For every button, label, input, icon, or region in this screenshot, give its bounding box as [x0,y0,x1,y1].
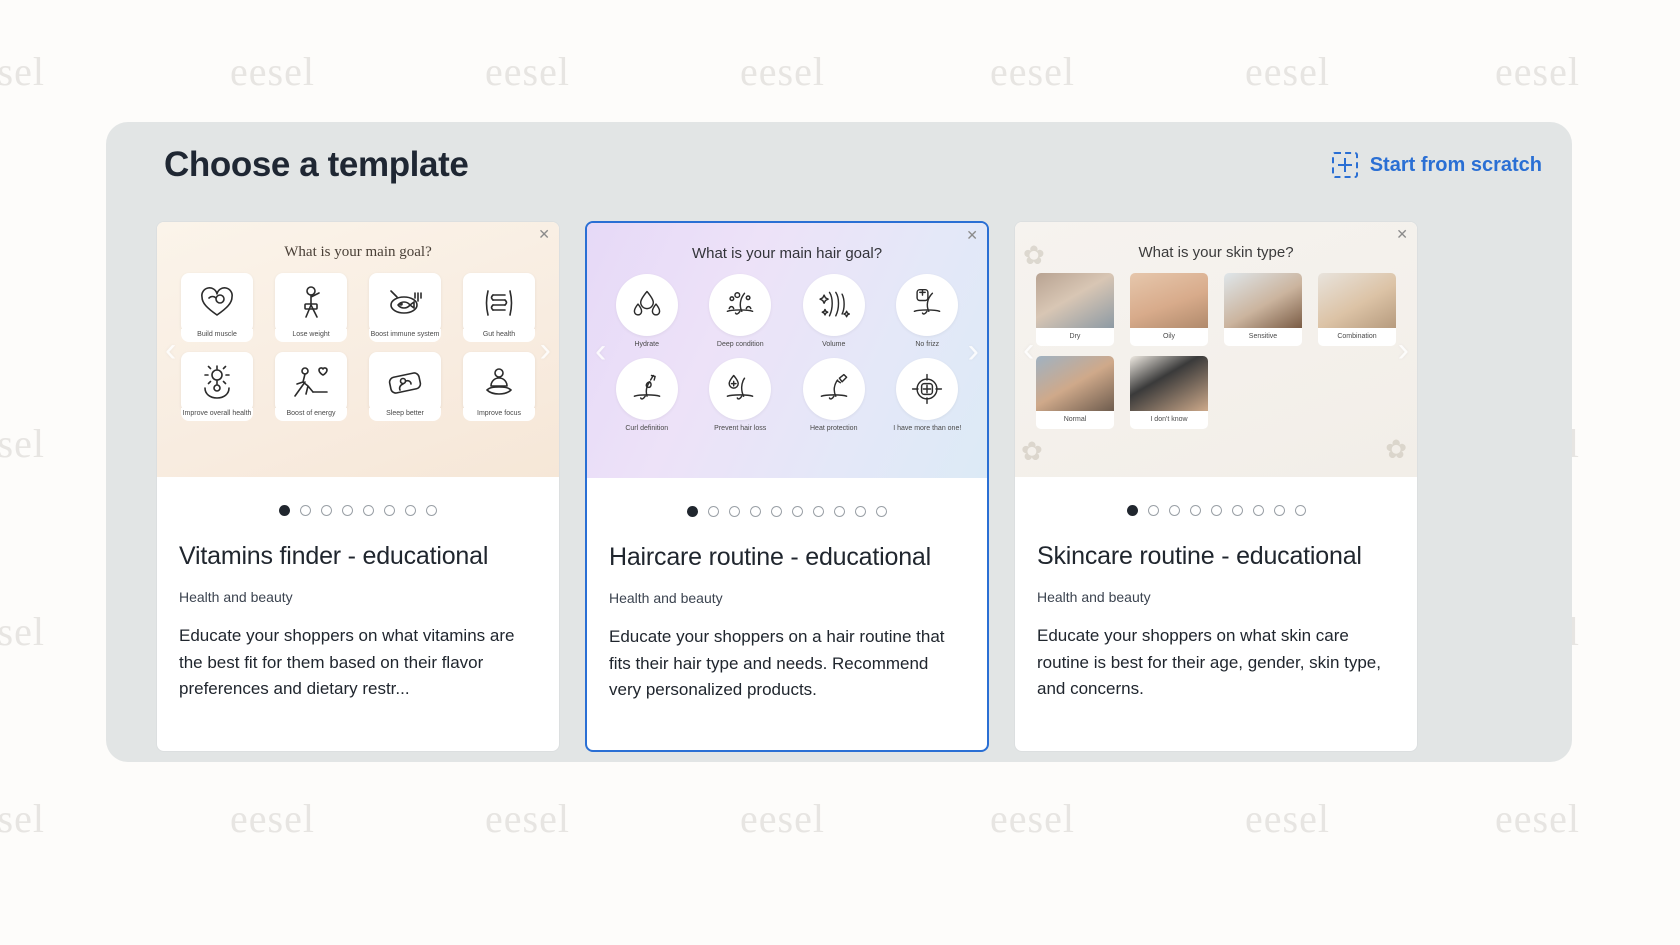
watermark-text: eesel [990,48,1075,95]
preview-option-label: Boost of energy [275,408,347,421]
template-card[interactable]: ✿ ✿ ✿ ✕ What is your skin type? Dry Oily… [1014,221,1418,752]
carousel-dot[interactable] [1295,505,1306,516]
preview-option[interactable]: Dry [1033,273,1117,346]
watermark-text: eesel [0,608,45,655]
intestines-icon [463,273,535,333]
modal-header: Choose a template Start from scratch [106,122,1572,208]
template-preview: ✕ What is your main goal? Build muscle L… [157,222,559,477]
page-title: Choose a template [164,145,468,185]
preview-option-label: Improve focus [463,408,535,421]
watermark-text: eesel [740,795,825,842]
hair-drop-plus-icon [709,358,771,420]
template-category: Health and beauty [609,590,965,606]
preview-option[interactable]: Sleep better [363,352,447,421]
fish-plate-icon [369,273,441,333]
preview-option-label: Lose weight [275,329,347,342]
chevron-right-icon[interactable]: › [540,333,551,367]
carousel-dot[interactable] [1148,505,1159,516]
heart-muscle-icon [181,273,253,333]
template-title: Vitamins finder - educational [179,542,537,571]
watermark-text: eesel [0,48,45,95]
hiking-heart-icon [275,352,347,412]
leaf-decoration-icon: ✿ [1023,240,1045,271]
watermark-text: eesel [1245,48,1330,95]
preview-option-label: No frizz [915,341,939,348]
photo-hand-lotion [1036,273,1114,328]
preview-option-label: Dry [1036,328,1114,346]
preview-option[interactable]: Gut health [457,273,541,342]
preview-option[interactable]: No frizz [886,274,970,348]
preview-option-label: Sleep better [369,408,441,421]
preview-option[interactable]: I have more than one! [886,358,970,432]
template-title: Haircare routine - educational [609,543,965,572]
template-description: Educate your shoppers on what vitamins a… [179,623,537,703]
preview-option[interactable]: Oily [1127,273,1211,346]
chevron-right-icon[interactable]: › [1398,333,1409,367]
watermark-text: eesel [1495,795,1580,842]
carousel-dot[interactable] [426,505,437,516]
carousel-dot[interactable] [813,506,824,517]
template-card-list: ✕ What is your main goal? Build muscle L… [156,221,1418,752]
close-icon[interactable]: ✕ [966,228,978,242]
carousel-dot[interactable] [750,506,761,517]
chevron-left-icon[interactable]: ‹ [165,333,176,367]
preview-option[interactable]: Combination [1315,273,1399,346]
preview-option[interactable]: Improve overall health [175,352,259,421]
preview-option[interactable]: Lose weight [269,273,353,342]
preview-option-label: Prevent hair loss [714,425,766,432]
person-measuring-tape-icon [275,273,347,333]
photo-woman-smiling [1036,356,1114,411]
target-plus-icon [896,358,958,420]
carousel-dot[interactable] [876,506,887,517]
carousel-dot[interactable] [1232,505,1243,516]
meditation-icon [463,352,535,412]
preview-option[interactable]: Improve focus [457,352,541,421]
watermark-text: eesel [230,48,315,95]
carousel-dot[interactable] [1127,505,1138,516]
carousel-dot[interactable] [687,506,698,517]
template-category: Health and beauty [1037,589,1395,605]
dashed-square-plus-icon [1332,152,1358,178]
watermark-text: eesel [0,795,45,842]
carousel-dot[interactable] [792,506,803,517]
close-icon[interactable]: ✕ [1396,227,1408,241]
photo-woman-applying [1318,273,1396,328]
preview-option-label: Deep condition [717,341,764,348]
close-icon[interactable]: ✕ [538,227,550,241]
carousel-dot[interactable] [729,506,740,517]
preview-option[interactable]: Boost of energy [269,352,353,421]
water-drops-icon [616,274,678,336]
template-preview: ✕ What is your main hair goal? Hydrate D… [587,223,987,478]
carousel-dot[interactable] [342,505,353,516]
preview-option-label: Curl definition [625,425,668,432]
preview-option-grid: Hydrate Deep condition Volume No frizz C… [587,262,987,432]
carousel-dot[interactable] [834,506,845,517]
carousel-dot[interactable] [363,505,374,516]
preview-option-grid: Dry Oily Sensitive Combination Normal I … [1015,261,1417,429]
template-description: Educate your shoppers on a hair routine … [609,624,965,704]
preview-option[interactable]: I don't know [1127,356,1211,429]
preview-option-label: I don't know [1130,411,1208,429]
carousel-dot[interactable] [1211,505,1222,516]
hair-follicle-bubbles-icon [709,274,771,336]
watermark-text: eesel [1495,48,1580,95]
chevron-left-icon[interactable]: ‹ [595,334,606,368]
leaf-decoration-icon: ✿ [1021,436,1043,467]
photo-woman-washing [1224,273,1302,328]
pillow-sleep-icon [369,352,441,412]
carousel-dot[interactable] [708,506,719,517]
watermark-text: eesel [990,795,1075,842]
chevron-left-icon[interactable]: ‹ [1023,333,1034,367]
preview-option-label: I have more than one! [893,425,961,432]
carousel-dot[interactable] [1253,505,1264,516]
photo-woman-towel [1130,356,1208,411]
template-card-body: Vitamins finder - educational Health and… [157,516,559,703]
watermark-text: eesel [485,48,570,95]
carousel-dot[interactable] [1190,505,1201,516]
hair-heat-icon [803,358,865,420]
template-card-body: Haircare routine - educational Health an… [587,517,987,704]
chevron-right-icon[interactable]: › [968,334,979,368]
carousel-dot[interactable] [300,505,311,516]
sun-hands-icon [181,352,253,412]
watermark-text: eesel [485,795,570,842]
carousel-dot[interactable] [855,506,866,517]
preview-question: What is your main hair goal? [587,223,987,262]
carousel-dot[interactable] [1169,505,1180,516]
preview-option-label: Oily [1130,328,1208,346]
template-card-body: Skincare routine - educational Health an… [1015,516,1417,703]
watermark-text: eesel [0,420,45,467]
preview-option[interactable]: Build muscle [175,273,259,342]
preview-option[interactable]: Curl definition [605,358,689,432]
carousel-dot[interactable] [771,506,782,517]
preview-option[interactable]: Normal [1033,356,1117,429]
preview-option-label: Boost immune system [369,329,441,342]
carousel-dot[interactable] [1274,505,1285,516]
watermark-text: eesel [740,48,825,95]
template-description: Educate your shoppers on what skin care … [1037,623,1395,703]
start-from-scratch-label: Start from scratch [1370,154,1542,177]
leaf-decoration-icon: ✿ [1385,434,1407,465]
preview-option[interactable]: Prevent hair loss [699,358,783,432]
preview-option-label: Gut health [463,329,535,342]
carousel-dot[interactable] [405,505,416,516]
template-preview: ✿ ✿ ✿ ✕ What is your skin type? Dry Oily… [1015,222,1417,477]
curly-hair-icon [616,358,678,420]
preview-option[interactable]: Deep condition [699,274,783,348]
wavy-hair-sparkle-icon [803,274,865,336]
preview-option-label: Combination [1318,328,1396,346]
preview-question: What is your main goal? [157,222,559,261]
watermark-text: eesel [1245,795,1330,842]
choose-template-modal: Choose a template Start from scratch ✕ W… [106,122,1572,762]
preview-option-label: Volume [822,341,845,348]
photo-face-eyes [1130,273,1208,328]
start-from-scratch-button[interactable]: Start from scratch [1332,152,1542,178]
preview-option-label: Build muscle [181,329,253,342]
carousel-dot[interactable] [279,505,290,516]
carousel-dot[interactable] [321,505,332,516]
template-title: Skincare routine - educational [1037,542,1395,571]
preview-option-grid: Build muscle Lose weight Boost immune sy… [157,261,559,421]
template-category: Health and beauty [179,589,537,605]
template-card[interactable]: ✕ What is your main goal? Build muscle L… [156,221,560,752]
preview-option[interactable]: Heat protection [792,358,876,432]
preview-option-label: Sensitive [1224,328,1302,346]
preview-option-label: Improve overall health [181,408,253,421]
preview-option-label: Normal [1036,411,1114,429]
preview-option[interactable]: Sensitive [1221,273,1305,346]
template-card[interactable]: ✕ What is your main hair goal? Hydrate D… [585,221,989,752]
watermark-text: eesel [230,795,315,842]
carousel-dots [157,477,559,516]
preview-option[interactable]: Boost immune system [363,273,447,342]
carousel-dots [1015,477,1417,516]
preview-option-label: Hydrate [634,341,659,348]
carousel-dot[interactable] [384,505,395,516]
carousel-dots [587,478,987,517]
preview-option-label: Heat protection [810,425,857,432]
hair-follicle-plus-icon [896,274,958,336]
preview-option[interactable]: Volume [792,274,876,348]
preview-question: What is your skin type? [1015,222,1417,261]
preview-option[interactable]: Hydrate [605,274,689,348]
